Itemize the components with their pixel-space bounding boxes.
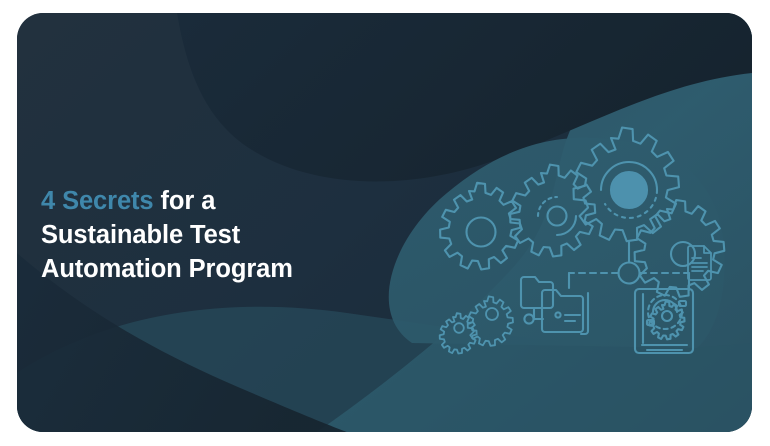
- document-page: [688, 246, 711, 280]
- folder-stack: [521, 277, 588, 334]
- connector-node: [619, 242, 640, 284]
- headline-line-2: Sustainable Test: [41, 219, 371, 253]
- device-tablet: [635, 289, 693, 353]
- small-gears-bottom-left: [440, 296, 513, 353]
- headline-line-1: 4 Secrets for a: [41, 185, 371, 219]
- headline-accent: 4 Secrets: [41, 187, 154, 215]
- page-title: 4 Secrets for a Sustainable Test Automat…: [41, 185, 371, 287]
- headline-line-1-rest: for a: [154, 187, 216, 215]
- promo-banner-card: 4 Secrets for a Sustainable Test Automat…: [17, 13, 752, 432]
- gear-right: [635, 200, 725, 297]
- headline-line-3: Automation Program: [41, 253, 371, 287]
- gear-medium-left: [510, 165, 595, 257]
- large-gear-left: [440, 183, 520, 270]
